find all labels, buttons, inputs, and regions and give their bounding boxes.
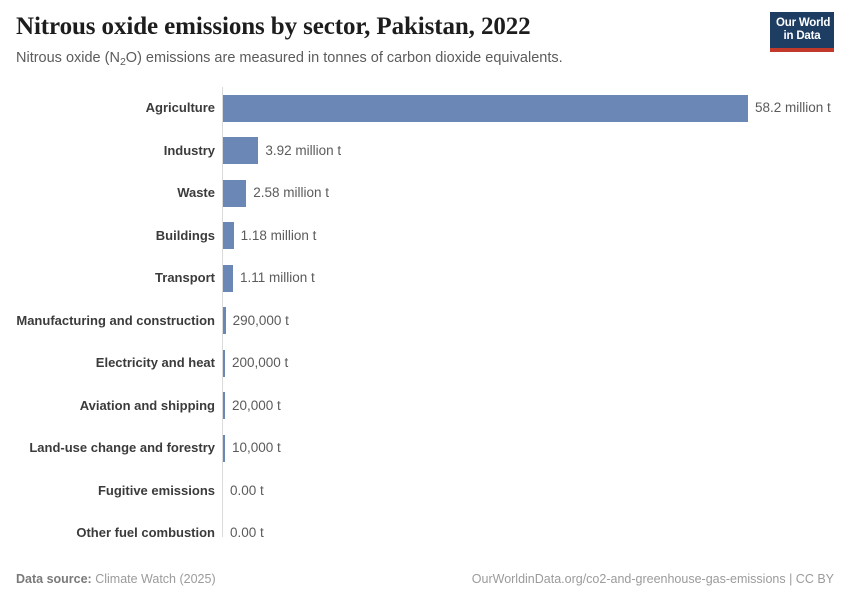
bar-category-label: Waste bbox=[16, 185, 222, 201]
bar-row[interactable]: Other fuel combustion0.00 t bbox=[16, 512, 834, 555]
bar-category-label: Buildings bbox=[16, 228, 222, 244]
bar-value-group: 10,000 t bbox=[222, 435, 834, 462]
bar-value-group: 0.00 t bbox=[222, 477, 834, 504]
bar-value-label: 10,000 t bbox=[225, 440, 281, 456]
attribution-link[interactable]: OurWorldinData.org/co2-and-greenhouse-ga… bbox=[472, 572, 834, 586]
bar-category-label: Transport bbox=[16, 270, 222, 286]
bar-value-label: 290,000 t bbox=[226, 313, 289, 329]
owid-logo-line-1: Our World bbox=[776, 17, 828, 30]
bar-row[interactable]: Electricity and heat200,000 t bbox=[16, 342, 834, 385]
chart-header: Nitrous oxide emissions by sector, Pakis… bbox=[16, 0, 834, 69]
data-source-label: Data source: bbox=[16, 572, 92, 586]
bar-value-label: 20,000 t bbox=[225, 398, 281, 414]
bar-row[interactable]: Land-use change and forestry10,000 t bbox=[16, 427, 834, 470]
data-source: Data source: Climate Watch (2025) bbox=[16, 572, 216, 586]
bar-rect bbox=[223, 180, 246, 207]
owid-logo-line-2: in Data bbox=[776, 30, 828, 43]
bar-value-label: 2.58 million t bbox=[246, 185, 329, 201]
page-title: Nitrous oxide emissions by sector, Pakis… bbox=[16, 12, 834, 42]
chart-footer: Data source: Climate Watch (2025) OurWor… bbox=[16, 572, 834, 586]
bar-value-label: 0.00 t bbox=[223, 483, 264, 499]
bar-row[interactable]: Transport1.11 million t bbox=[16, 257, 834, 300]
bar-row[interactable]: Waste2.58 million t bbox=[16, 172, 834, 215]
bar-category-label: Agriculture bbox=[16, 100, 222, 116]
bar-value-label: 58.2 million t bbox=[748, 100, 831, 116]
bar-value-group: 200,000 t bbox=[222, 350, 834, 377]
plot-area: Agriculture58.2 million tIndustry3.92 mi… bbox=[16, 87, 834, 547]
bar-category-label: Electricity and heat bbox=[16, 355, 222, 371]
bar-value-group: 58.2 million t bbox=[222, 95, 834, 122]
subtitle-part-2: O) emissions are measured in tonnes of c… bbox=[126, 50, 563, 66]
bar-category-label: Industry bbox=[16, 143, 222, 159]
bar-category-label: Manufacturing and construction bbox=[16, 313, 222, 329]
owid-logo[interactable]: Our World in Data bbox=[770, 12, 834, 52]
bar-category-label: Land-use change and forestry bbox=[16, 440, 222, 456]
bar-list: Agriculture58.2 million tIndustry3.92 mi… bbox=[16, 87, 834, 555]
bar-rect bbox=[223, 95, 748, 122]
bar-value-label: 200,000 t bbox=[225, 355, 288, 371]
bar-value-label: 3.92 million t bbox=[258, 143, 341, 159]
bar-row[interactable]: Agriculture58.2 million t bbox=[16, 87, 834, 130]
chart-container: Nitrous oxide emissions by sector, Pakis… bbox=[0, 0, 850, 600]
bar-value-label: 0.00 t bbox=[223, 525, 264, 541]
bar-rect bbox=[223, 265, 233, 292]
bar-rect bbox=[223, 222, 234, 249]
bar-value-group: 3.92 million t bbox=[222, 137, 834, 164]
bar-category-label: Fugitive emissions bbox=[16, 483, 222, 499]
bar-row[interactable]: Industry3.92 million t bbox=[16, 130, 834, 173]
bar-value-group: 2.58 million t bbox=[222, 180, 834, 207]
bar-category-label: Other fuel combustion bbox=[16, 525, 222, 541]
subtitle-part-1: Nitrous oxide (N bbox=[16, 50, 120, 66]
bar-value-group: 290,000 t bbox=[222, 307, 834, 334]
bar-category-label: Aviation and shipping bbox=[16, 398, 222, 414]
bar-row[interactable]: Manufacturing and construction290,000 t bbox=[16, 300, 834, 343]
data-source-value: Climate Watch (2025) bbox=[92, 572, 216, 586]
bar-row[interactable]: Buildings1.18 million t bbox=[16, 215, 834, 258]
bar-value-label: 1.18 million t bbox=[234, 228, 317, 244]
subtitle-subscript: 2 bbox=[120, 56, 126, 68]
bar-value-group: 1.18 million t bbox=[222, 222, 834, 249]
bar-value-group: 20,000 t bbox=[222, 392, 834, 419]
bar-rect bbox=[223, 137, 258, 164]
bar-value-group: 1.11 million t bbox=[222, 265, 834, 292]
bar-row[interactable]: Aviation and shipping20,000 t bbox=[16, 385, 834, 428]
chart-subtitle: Nitrous oxide (N2O) emissions are measur… bbox=[16, 49, 834, 69]
bar-value-label: 1.11 million t bbox=[233, 270, 315, 286]
bar-value-group: 0.00 t bbox=[222, 520, 834, 547]
bar-row[interactable]: Fugitive emissions0.00 t bbox=[16, 470, 834, 513]
